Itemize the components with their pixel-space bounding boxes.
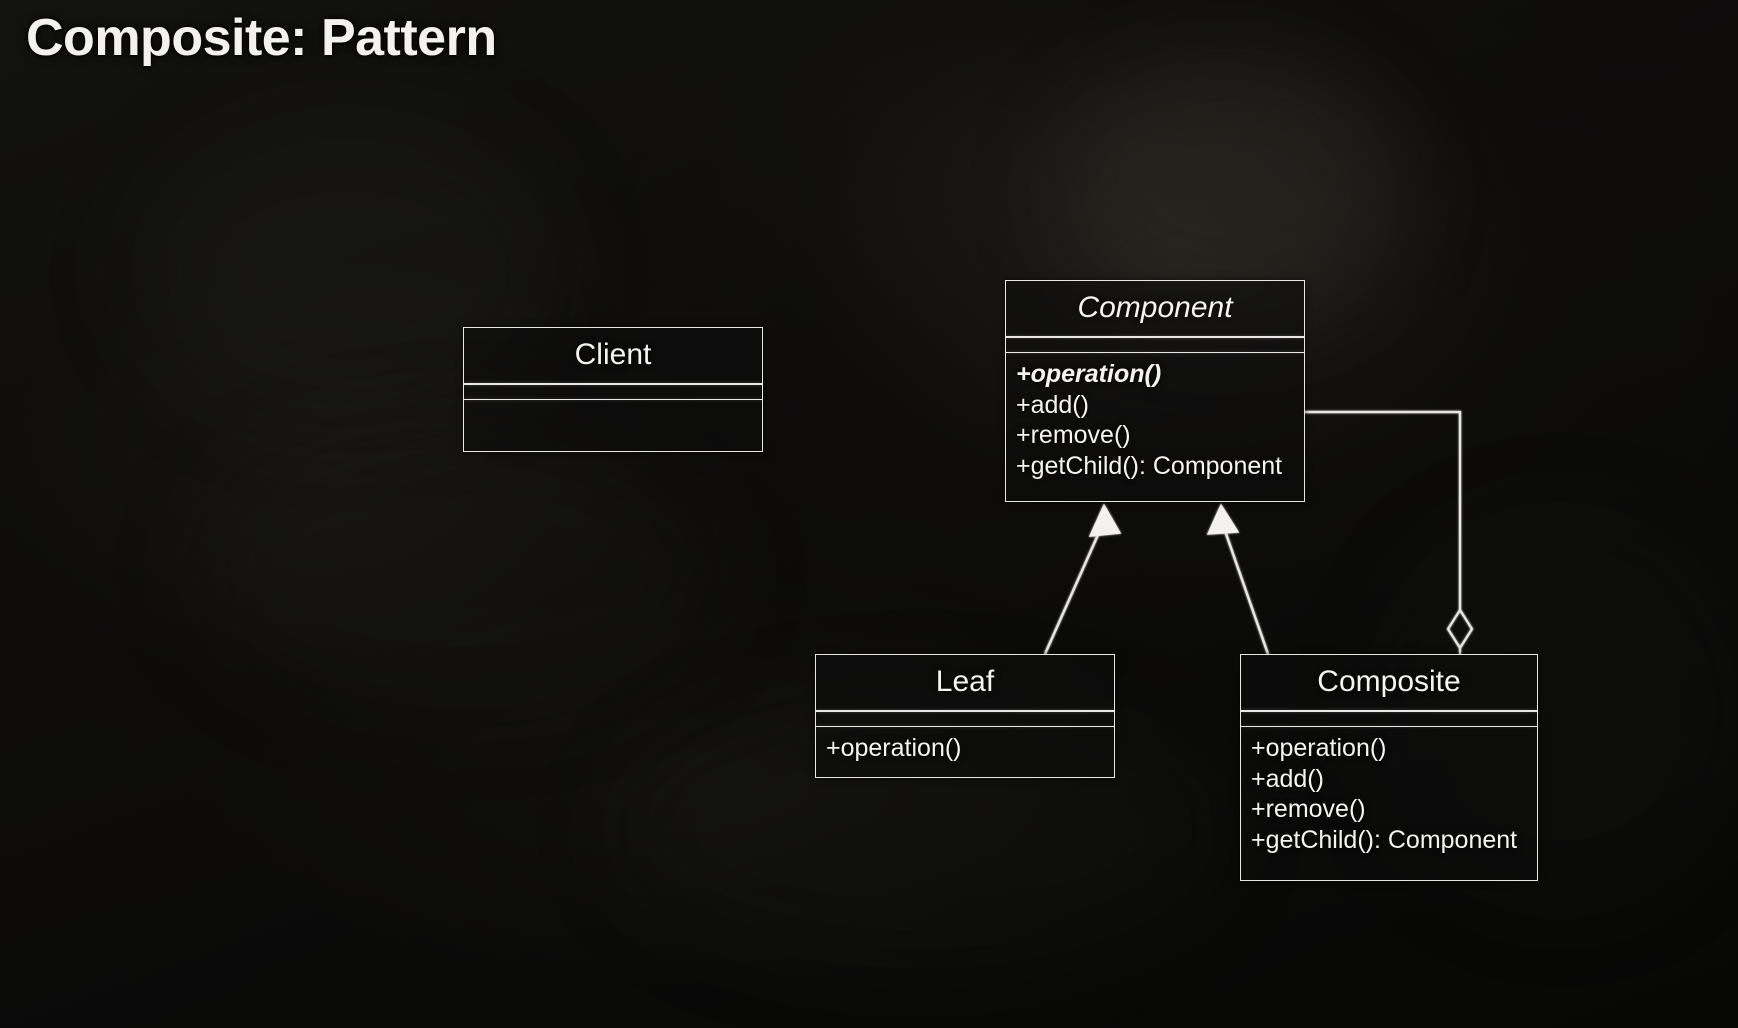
uml-attributes-compartment xyxy=(1006,338,1304,352)
uml-operation: +add() xyxy=(1251,764,1537,795)
connector-composite-component xyxy=(1208,505,1268,654)
uml-operation: +operation() xyxy=(1251,733,1537,764)
page-title: Composite: Pattern xyxy=(26,8,497,68)
connector-composite-aggregation xyxy=(1305,412,1472,654)
uml-operation: +getChild(): Component xyxy=(1251,825,1537,856)
uml-operations-compartment: +operation() xyxy=(816,727,1114,772)
connector-leaf-component xyxy=(1045,505,1120,654)
uml-class-name: Leaf xyxy=(816,655,1114,710)
uml-class-name: Client xyxy=(464,328,762,383)
uml-attributes-compartment xyxy=(464,385,762,399)
uml-class-name: Composite xyxy=(1241,655,1537,710)
uml-operation: +getChild(): Component xyxy=(1016,451,1304,482)
uml-attributes-compartment xyxy=(1241,712,1537,726)
uml-operation: +operation() xyxy=(1016,359,1304,390)
uml-operations-compartment: +operation() +add() +remove() +getChild(… xyxy=(1006,353,1304,489)
uml-class-leaf[interactable]: Leaf +operation() xyxy=(815,654,1115,778)
background-blob xyxy=(200,430,720,710)
uml-operation: +remove() xyxy=(1016,420,1304,451)
uml-operation: +remove() xyxy=(1251,794,1537,825)
uml-class-client[interactable]: Client xyxy=(463,327,763,452)
uml-operations-compartment xyxy=(464,400,762,414)
uml-class-name: Component xyxy=(1006,281,1304,336)
uml-class-composite[interactable]: Composite +operation() +add() +remove() … xyxy=(1240,654,1538,881)
uml-operations-compartment: +operation() +add() +remove() +getChild(… xyxy=(1241,727,1537,863)
uml-operation: +operation() xyxy=(826,733,1114,764)
uml-attributes-compartment xyxy=(816,712,1114,726)
slide-canvas: Composite: Pattern xyxy=(0,0,1738,1028)
uml-class-component[interactable]: Component +operation() +add() +remove() … xyxy=(1005,280,1305,502)
uml-operation: +add() xyxy=(1016,390,1304,421)
